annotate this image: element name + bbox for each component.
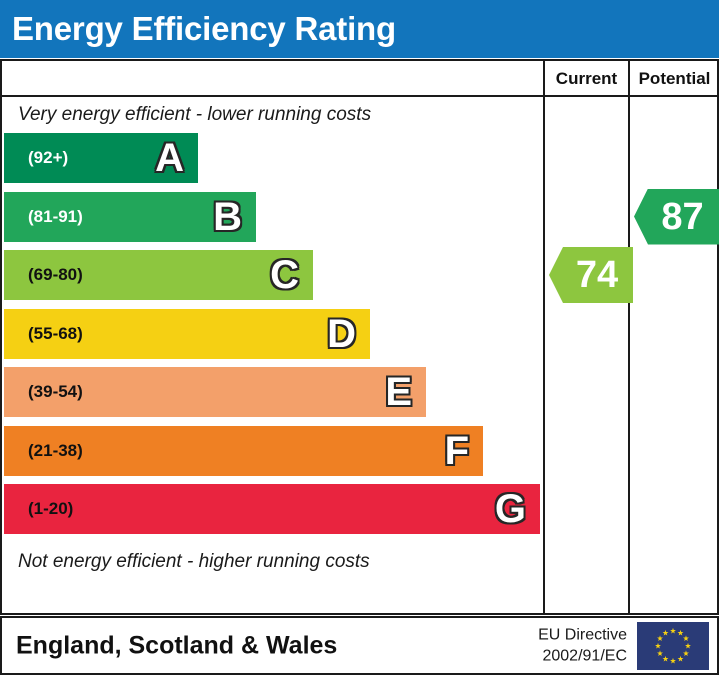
column-header-potential: Potential — [630, 61, 719, 97]
band-bar-f: (21-38)F — [4, 426, 483, 476]
band-bar-g: (1-20)G — [4, 484, 540, 534]
column-divider-current — [543, 61, 545, 613]
band-letter-a: A — [155, 138, 184, 178]
rating-value-current: 74 — [564, 256, 618, 294]
column-header-current: Current — [545, 61, 628, 97]
chart-footer: England, Scotland & Wales EU Directive 2… — [0, 616, 719, 675]
band-range-b: (81-91) — [28, 207, 83, 227]
band-range-e: (39-54) — [28, 382, 83, 402]
caption-not-efficient: Not energy efficient - higher running co… — [4, 544, 543, 580]
band-range-f: (21-38) — [28, 441, 83, 461]
directive-line-2: 2002/91/EC — [538, 646, 627, 668]
rating-arrow-potential: 87 — [634, 189, 719, 245]
column-header-row: Current Potential — [2, 61, 717, 97]
band-letter-c: C — [270, 255, 299, 295]
rating-value-potential: 87 — [649, 198, 703, 236]
page-title: Energy Efficiency Rating — [12, 10, 396, 48]
directive-line-1: EU Directive — [538, 624, 627, 646]
chart-frame: Current Potential Very energy efficient … — [0, 59, 719, 615]
band-letter-f: F — [445, 431, 469, 471]
band-range-d: (55-68) — [28, 324, 83, 344]
band-letter-g: G — [495, 489, 526, 529]
chart-title-bar: Energy Efficiency Rating — [0, 0, 719, 58]
band-range-c: (69-80) — [28, 265, 83, 285]
band-bar-c: (69-80)C — [4, 250, 313, 300]
caption-very-efficient: Very energy efficient - lower running co… — [4, 97, 543, 133]
band-letter-e: E — [385, 372, 412, 412]
footer-region-label: England, Scotland & Wales — [16, 631, 337, 660]
energy-efficiency-rating-chart: Energy Efficiency Rating Current Potenti… — [0, 0, 719, 675]
rating-arrow-current: 74 — [549, 247, 633, 303]
band-bar-b: (81-91)B — [4, 192, 256, 242]
band-bar-e: (39-54)E — [4, 367, 426, 417]
eu-flag-icon — [637, 622, 709, 670]
band-letter-b: B — [213, 197, 242, 237]
column-divider-potential — [628, 61, 630, 613]
band-bar-a: (92+)A — [4, 133, 198, 183]
band-bar-d: (55-68)D — [4, 309, 370, 359]
band-letter-d: D — [327, 314, 356, 354]
band-bars-group: (92+)A(81-91)B(69-80)C(55-68)D(39-54)E(2… — [4, 133, 543, 544]
footer-directive: EU Directive 2002/91/EC — [538, 624, 627, 667]
band-range-g: (1-20) — [28, 499, 73, 519]
band-range-a: (92+) — [28, 148, 68, 168]
